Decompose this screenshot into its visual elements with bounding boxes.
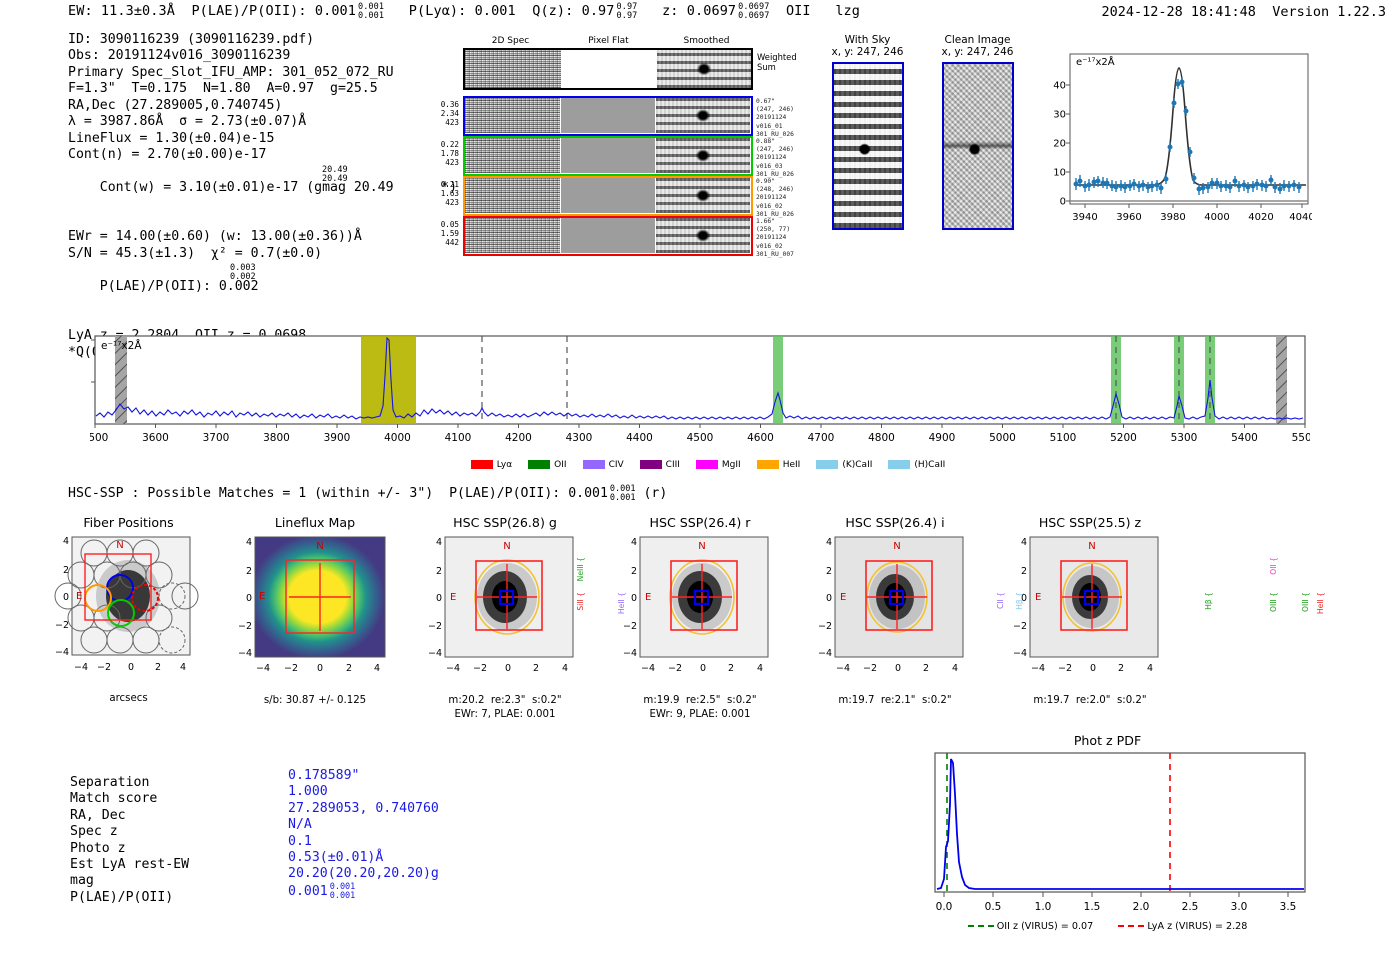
- svg-text:2: 2: [533, 663, 539, 674]
- header-z-value: 0.0697: [687, 3, 736, 19]
- svg-text:4800: 4800: [868, 432, 895, 444]
- photz-title: Phot z PDF: [905, 733, 1310, 748]
- svg-text:−4: −4: [446, 663, 460, 674]
- svg-text:4: 4: [246, 537, 252, 548]
- svg-text:0: 0: [826, 593, 832, 604]
- svg-text:E: E: [76, 591, 82, 602]
- with-sky-title: With Sky: [820, 34, 915, 46]
- masked-region: [1276, 336, 1287, 424]
- detection-band: [361, 336, 416, 424]
- legend-item-hcaii: (H)CaII: [888, 460, 945, 470]
- spectrum-legend: LyαOIICIVCIIIMgIIHeII(K)CaII(H)CaII: [468, 452, 948, 471]
- svg-text:2: 2: [728, 663, 734, 674]
- svg-text:5200: 5200: [1110, 432, 1137, 444]
- row-key-est-lya-rest-ew: Est LyA rest-EW: [70, 857, 189, 873]
- svg-text:0: 0: [128, 662, 134, 673]
- with-sky-image: [832, 62, 904, 230]
- legend-item-oii: OII: [528, 460, 566, 470]
- svg-text:4: 4: [436, 537, 442, 548]
- svg-text:−2: −2: [1058, 663, 1072, 674]
- svg-text:N: N: [1088, 541, 1095, 552]
- legend-item-lya: Lyα: [471, 460, 512, 470]
- line-label-hbeta-c: Hβ {: [1204, 592, 1213, 610]
- spec2d-col-title-pixelflat: Pixel Flat: [561, 36, 656, 46]
- svg-text:1.5: 1.5: [1084, 901, 1101, 913]
- spec2d-col-title-smoothed: Smoothed: [659, 36, 754, 46]
- row-stats: 0.05 1.59 442: [425, 220, 459, 248]
- svg-text:−2: −2: [55, 620, 69, 631]
- panel-caption-2: EWr: 9, PLAE: 0.001: [610, 709, 790, 720]
- svg-text:4: 4: [757, 663, 763, 674]
- row-smoothed-image: [656, 218, 750, 253]
- svg-text:−4: −4: [836, 663, 850, 674]
- spec2d-rows: 0.36 2.34 423 0.67" (247, 246) 20191124 …: [463, 96, 753, 256]
- panel-caption: m:20.2 re:2.3" s:0.2": [415, 695, 595, 706]
- svg-text:5500: 5500: [1292, 432, 1310, 444]
- svg-text:4500: 4500: [687, 432, 714, 444]
- svg-text:2: 2: [923, 663, 929, 674]
- info-cont-n: Cont(n) = 2.70(±0.00)e-17: [68, 147, 457, 163]
- svg-text:2.0: 2.0: [1133, 901, 1150, 913]
- row-key-match-score: Match score: [70, 791, 189, 807]
- panel-caption: s/b: 30.87 +/- 0.125: [225, 695, 405, 706]
- panel-title: HSC SSP(25.5) z: [1000, 515, 1180, 530]
- panel-caption: m:19.7 re:2.1" s:0.2": [805, 695, 985, 706]
- row-value-radec: 27.289053, 0.740760: [288, 801, 439, 817]
- svg-text:30: 30: [1053, 110, 1066, 121]
- row-2dspec-image: [465, 218, 560, 253]
- header-z-label: z:: [662, 3, 678, 19]
- header-plae-label: P(LAE)/P(OII):: [191, 3, 306, 19]
- svg-text:2: 2: [246, 566, 252, 577]
- info-snr: S/N = 45.3(±1.3) χ² = 0.7(±0.0): [68, 246, 457, 262]
- row-2dspec-image: [465, 98, 560, 133]
- row-pixelflat-image: [561, 178, 655, 213]
- legend-swatch: [888, 460, 910, 469]
- header-qz-frac: 0.970.97: [617, 3, 638, 21]
- header-plya-value: 0.001: [475, 3, 516, 19]
- svg-text:0.5: 0.5: [985, 901, 1002, 913]
- svg-text:−4: −4: [55, 647, 69, 658]
- info-gmag-frac: 20.4920.49: [322, 166, 348, 184]
- panel-caption: m:19.9 re:2.5" s:0.2": [610, 695, 790, 706]
- spec2d-row: [463, 96, 753, 136]
- svg-text:4600: 4600: [747, 432, 774, 444]
- svg-text:−4: −4: [1013, 648, 1027, 659]
- row-stats: 0.36 2.34 423: [425, 100, 459, 128]
- svg-text:3500: 3500: [90, 432, 108, 444]
- header-ew: EW: 11.3±0.3Å: [68, 3, 175, 19]
- svg-text:−2: −2: [428, 621, 442, 632]
- panel-lineflux-map: Lineflux Map N E 420 −2−4 −4−20 24 s/b: …: [225, 515, 405, 715]
- weighted-sum-2dspec-image: [465, 50, 561, 88]
- svg-text:4: 4: [180, 662, 186, 673]
- svg-text:−2: −2: [623, 621, 637, 632]
- photz-legend-oii: OII z (VIRUS) = 0.07: [968, 921, 1097, 932]
- svg-text:−4: −4: [623, 648, 637, 659]
- legend-item-civ: CIV: [583, 460, 624, 470]
- spec2d-row: [463, 216, 753, 256]
- svg-text:−2: −2: [668, 663, 682, 674]
- spec2d-row: [463, 176, 753, 216]
- legend-swatch: [640, 460, 662, 469]
- svg-text:0: 0: [895, 663, 901, 674]
- svg-text:3700: 3700: [203, 432, 230, 444]
- svg-text:4200: 4200: [505, 432, 532, 444]
- clean-image-coords: x, y: 247, 246: [930, 46, 1025, 58]
- spectrum-annotation: e⁻¹⁷x2Å: [101, 340, 142, 352]
- svg-text:2: 2: [63, 565, 69, 576]
- svg-text:−4: −4: [1031, 663, 1045, 674]
- line-fit-annotation: e⁻¹⁷x2Å: [1076, 57, 1115, 68]
- svg-text:3.0: 3.0: [1231, 901, 1248, 913]
- svg-text:4000: 4000: [1204, 212, 1229, 223]
- panel-title: HSC SSP(26.4) i: [805, 515, 985, 530]
- svg-text:4900: 4900: [929, 432, 956, 444]
- legend-item-heii: HeII: [757, 460, 801, 470]
- svg-text:0: 0: [1021, 593, 1027, 604]
- svg-text:−4: −4: [818, 648, 832, 659]
- line-fit-plot: 010 203040 394039603980 400040204040: [1036, 50, 1312, 255]
- svg-text:5400: 5400: [1231, 432, 1258, 444]
- svg-text:5100: 5100: [1050, 432, 1077, 444]
- svg-text:4: 4: [562, 663, 568, 674]
- legend-swatch: [696, 460, 718, 469]
- row-smoothed-image: [656, 98, 750, 133]
- svg-text:2: 2: [1118, 663, 1124, 674]
- svg-text:40: 40: [1053, 81, 1066, 92]
- line-label-oiii-e: OIII {: [1269, 592, 1278, 612]
- header-summary: EW: 11.3±0.3Å P(LAE)/P(OII): 0.0010.0010…: [68, 3, 860, 21]
- row-value-separation: 0.178589": [288, 768, 439, 784]
- row-pixelflat-image: [561, 138, 655, 173]
- timestamp: 2024-12-28 18:41:48: [1102, 4, 1256, 20]
- info-wavelength: λ = 3987.86Å σ = 2.73(±0.07)Å: [68, 114, 457, 130]
- svg-text:2: 2: [155, 662, 161, 673]
- svg-text:N: N: [503, 541, 510, 552]
- hsc-header-plae-frac: 0.0010.001: [610, 485, 636, 503]
- row-2dspec-image: [465, 138, 560, 173]
- row-value-plae: 0.0010.0010.001: [288, 883, 439, 901]
- header-plae-frac: 0.0010.001: [358, 3, 384, 21]
- svg-text:0: 0: [1060, 197, 1066, 208]
- svg-text:4: 4: [952, 663, 958, 674]
- legend-swatch: [757, 460, 779, 469]
- full-spectrum-plot: SiIV { OII { CIV { OII { NV { NeIII { Si…: [90, 276, 1310, 466]
- photz-pdf-plot: Phot z PDF 0.00.51.0 1.52.02.5 3.03.5 OI…: [905, 733, 1310, 943]
- svg-text:0: 0: [700, 663, 706, 674]
- svg-text:4700: 4700: [808, 432, 835, 444]
- row-pixelflat-image: [561, 98, 655, 133]
- svg-text:−2: −2: [238, 621, 252, 632]
- svg-text:2: 2: [826, 566, 832, 577]
- row-meta: 0.90" (248, 246) 20191124 v016_02 301_RU…: [756, 178, 816, 219]
- panel-hsc-r: HSC SSP(26.4) r N E 420 −2−4 −4−20 24 m:…: [610, 515, 790, 730]
- match-plae-frac: 0.0010.001: [330, 883, 356, 901]
- svg-text:N: N: [116, 540, 123, 551]
- row-meta: 0.88" (247, 246) 20191124 v016_03 301_RU…: [756, 138, 816, 179]
- header-classification: OII: [786, 3, 811, 19]
- panel-title: HSC SSP(26.4) r: [610, 515, 790, 530]
- panel-title: HSC SSP(26.8) g: [415, 515, 595, 530]
- svg-text:20: 20: [1053, 139, 1066, 150]
- row-key-photo-z: Photo z: [70, 841, 189, 857]
- svg-text:N: N: [893, 541, 900, 552]
- row-key-radec: RA, Dec: [70, 808, 189, 824]
- spec2d-col-title-2dspec: 2D Spec: [463, 36, 558, 46]
- svg-text:4: 4: [374, 663, 380, 674]
- panel-title: Fiber Positions: [46, 515, 211, 530]
- svg-text:N: N: [698, 541, 705, 552]
- line-label-oiii-f: OIII {: [1301, 592, 1310, 612]
- row-key-spec-z: Spec z: [70, 824, 189, 840]
- svg-text:5000: 5000: [989, 432, 1016, 444]
- svg-text:3960: 3960: [1116, 212, 1141, 223]
- line-label-oii-c: OII {: [1269, 557, 1278, 575]
- svg-text:4100: 4100: [445, 432, 472, 444]
- line-label-heii-b: HeII {: [1316, 592, 1325, 614]
- legend-swatch: [816, 460, 838, 469]
- svg-text:2: 2: [346, 663, 352, 674]
- panel-hsc-g: HSC SSP(26.8) g N E 420 −2−4 −4−20 24 m:…: [415, 515, 595, 730]
- svg-text:3900: 3900: [324, 432, 351, 444]
- header-qz-label: Q(z):: [532, 3, 573, 19]
- hsc-header: HSC-SSP : Possible Matches = 1 (within +…: [68, 485, 667, 503]
- svg-text:0: 0: [63, 592, 69, 603]
- row-stats: 0.22 1.78 423: [425, 140, 459, 168]
- svg-text:4: 4: [63, 536, 69, 547]
- row-smoothed-image: [656, 138, 750, 173]
- info-primary-spec: Primary Spec_Slot_IFU_AMP: 301_052_072_R…: [68, 65, 457, 81]
- svg-text:−2: −2: [863, 663, 877, 674]
- svg-text:4: 4: [1147, 663, 1153, 674]
- panel-caption: m:19.7 re:2.0" s:0.2": [1000, 695, 1180, 706]
- header-plae-value: 0.001: [315, 3, 356, 19]
- spec2d-row: [463, 136, 753, 176]
- svg-text:−4: −4: [256, 663, 270, 674]
- svg-text:−4: −4: [74, 662, 88, 673]
- svg-text:−2: −2: [818, 621, 832, 632]
- svg-text:4000: 4000: [384, 432, 411, 444]
- svg-text:0: 0: [631, 593, 637, 604]
- svg-text:4400: 4400: [626, 432, 653, 444]
- svg-text:−2: −2: [1013, 621, 1027, 632]
- svg-text:E: E: [645, 592, 651, 603]
- row-value-est-lya-rest-ew: 0.53(±0.01)Å: [288, 850, 439, 866]
- weighted-sum-label: Weighted Sum: [757, 52, 797, 72]
- panel-caption-2: EWr: 7, PLAE: 0.001: [415, 709, 595, 720]
- row-value-mag: 20.20(20.20,20.20)g: [288, 866, 439, 882]
- info-ewr: EWr = 14.00(±0.60) (w: 13.00(±0.36))Å: [68, 229, 457, 245]
- row-stats: 0.21 1.63 423: [425, 180, 459, 208]
- sky-panel-clean-image: Clean Image x, y: 247, 246: [930, 34, 1025, 230]
- svg-text:0: 0: [1090, 663, 1096, 674]
- svg-text:0.0: 0.0: [936, 901, 953, 913]
- header-qz-value: 0.97: [582, 3, 615, 19]
- weighted-sum-smoothed-image: [657, 50, 751, 88]
- header-flag: lzg: [835, 3, 860, 19]
- header-timestamp-block: 2024-12-28 18:41:48 Version 1.22.3: [1102, 4, 1387, 20]
- legend-item-ciii: CIII: [640, 460, 680, 470]
- svg-text:4: 4: [826, 537, 832, 548]
- row-key-mag: mag: [70, 873, 189, 889]
- info-obs: Obs: 20191124v016_3090116239: [68, 48, 457, 64]
- panel-caption: arcsecs: [46, 693, 211, 704]
- svg-text:0: 0: [436, 593, 442, 604]
- svg-text:3600: 3600: [142, 432, 169, 444]
- panel-fiber-positions: Fiber Positions N E 420 −2−4 −4−20 24 ar…: [46, 515, 211, 715]
- row-key-plae: P(LAE)/P(OII): [70, 890, 189, 906]
- svg-text:N: N: [316, 541, 323, 552]
- svg-text:0: 0: [505, 663, 511, 674]
- panel-title: Lineflux Map: [225, 515, 405, 530]
- match-table-keys: Separation Match score RA, Dec Spec z Ph…: [70, 775, 189, 906]
- row-2dspec-image: [465, 178, 560, 213]
- svg-text:2: 2: [631, 566, 637, 577]
- svg-text:2.5: 2.5: [1182, 901, 1199, 913]
- photz-legend-lya: LyA z (VIRUS) = 2.28: [1118, 921, 1247, 932]
- info-radec: RA,Dec (27.289005,0.740745): [68, 98, 457, 114]
- photz-legend: OII z (VIRUS) = 0.07 LyA z (VIRUS) = 2.2…: [905, 921, 1310, 932]
- svg-text:2: 2: [436, 566, 442, 577]
- hsc-header-plae: 0.001: [568, 486, 608, 501]
- svg-text:−2: −2: [97, 662, 111, 673]
- info-id: ID: 3090116239 (3090116239.pdf): [68, 32, 457, 48]
- row-pixelflat-image: [561, 218, 655, 253]
- row-smoothed-image: [656, 178, 750, 213]
- clean-image-title: Clean Image: [930, 34, 1025, 46]
- legend-item-mgii: MgII: [696, 460, 741, 470]
- row-value-photo-z: 0.1: [288, 834, 439, 850]
- svg-text:10: 10: [1053, 168, 1066, 179]
- svg-text:4020: 4020: [1248, 212, 1273, 223]
- svg-text:1.0: 1.0: [1035, 901, 1052, 913]
- svg-text:E: E: [259, 591, 265, 602]
- row-value-spec-z: N/A: [288, 817, 439, 833]
- svg-text:3980: 3980: [1160, 212, 1185, 223]
- info-lineflux: LineFlux = 1.30(±0.04)e-15: [68, 131, 457, 147]
- svg-text:3940: 3940: [1072, 212, 1097, 223]
- header-plya-label: P(Lyα):: [409, 3, 467, 19]
- svg-text:−4: −4: [428, 648, 442, 659]
- svg-text:2: 2: [1021, 566, 1027, 577]
- row-meta: 1.66" (250, 77) 20191124 v016_02 301_RU_…: [756, 218, 816, 259]
- svg-text:4300: 4300: [566, 432, 593, 444]
- version-label: Version 1.22.3: [1272, 4, 1386, 20]
- header-z-frac: 0.06970.0697: [738, 3, 769, 21]
- panel-hsc-z: HSC SSP(25.5) z N E 420 −2−4 −4−20 24 m:…: [1000, 515, 1180, 730]
- svg-text:5300: 5300: [1171, 432, 1198, 444]
- svg-text:3.5: 3.5: [1280, 901, 1297, 913]
- sky-panel-with-sky: With Sky x, y: 247, 246: [820, 34, 915, 230]
- svg-text:E: E: [450, 592, 456, 603]
- svg-text:4: 4: [631, 537, 637, 548]
- legend-swatch: [528, 460, 550, 469]
- row-value-match-score: 1.000: [288, 784, 439, 800]
- svg-text:−2: −2: [473, 663, 487, 674]
- legend-swatch: [471, 460, 493, 469]
- spec2d-weighted-sum-row: [463, 48, 753, 90]
- info-cont-w: Cont(w) = 3.10(±0.01)e-17 (gmag 20.49 *)…: [68, 164, 457, 230]
- legend-item-kcaii: (K)CaII: [816, 460, 872, 470]
- svg-text:−4: −4: [238, 648, 252, 659]
- svg-text:0: 0: [246, 593, 252, 604]
- row-key-separation: Separation: [70, 775, 189, 791]
- row-meta: 0.67" (247, 246) 20191124 v016_01 301_RU…: [756, 98, 816, 139]
- clean-image-data: [942, 62, 1014, 230]
- svg-text:−4: −4: [641, 663, 655, 674]
- panel-hsc-i: HSC SSP(26.4) i N E 420 −2−4 −4−20 24 m:…: [805, 515, 985, 730]
- svg-text:−2: −2: [284, 663, 298, 674]
- svg-text:4: 4: [1021, 537, 1027, 548]
- spec2d-block: 2D Spec Pixel Flat Smoothed Weighted Sum…: [463, 36, 753, 256]
- legend-swatch: [583, 460, 605, 469]
- svg-text:4040: 4040: [1289, 212, 1312, 223]
- info-seeing: F=1.3" T=0.175 N=1.80 A=0.97 g=25.5: [68, 81, 457, 97]
- with-sky-coords: x, y: 247, 246: [820, 46, 915, 58]
- svg-text:3800: 3800: [263, 432, 290, 444]
- svg-text:E: E: [1035, 592, 1041, 603]
- match-table-values: 0.178589" 1.000 27.289053, 0.740760 N/A …: [288, 768, 439, 901]
- line-band: [773, 336, 783, 424]
- svg-text:E: E: [840, 592, 846, 603]
- svg-text:0: 0: [317, 663, 323, 674]
